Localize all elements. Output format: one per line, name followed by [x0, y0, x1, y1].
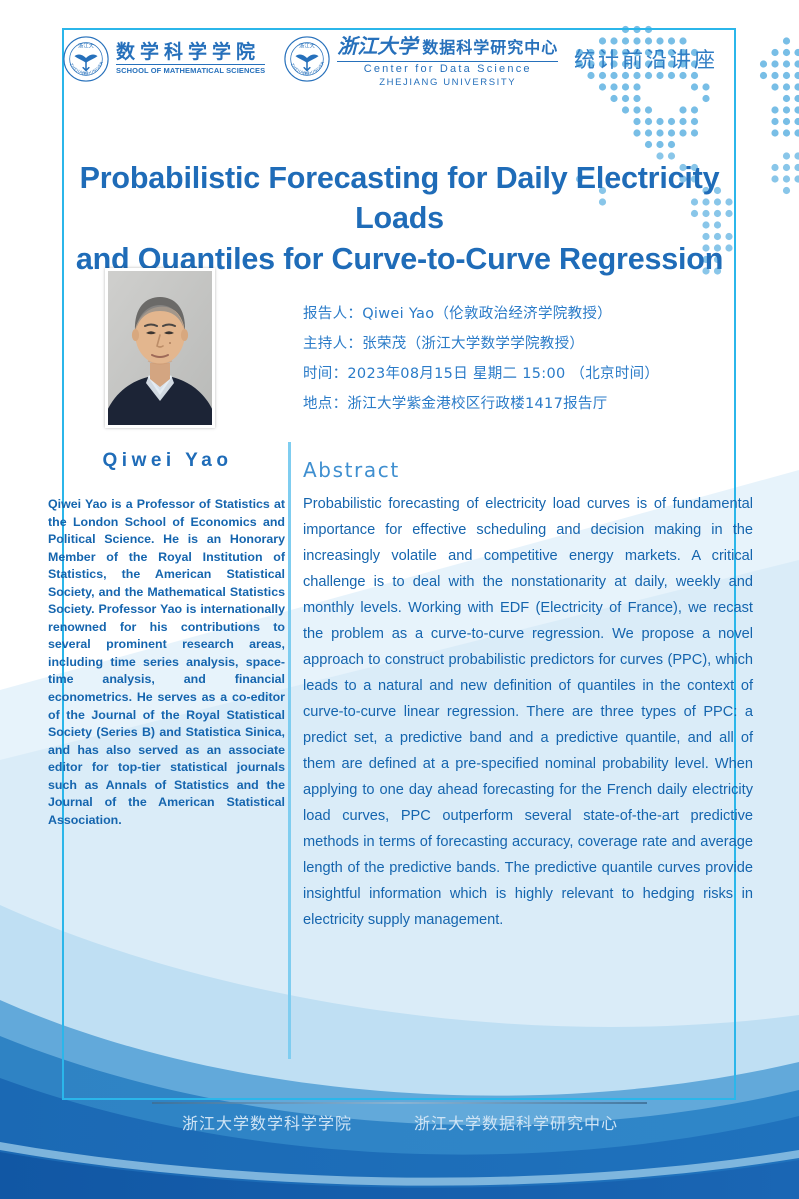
footer-divider: [152, 1102, 647, 1104]
poster-root: 浙江大 1897 ZHEJIANG UNIVERSITY 数学科学学院 SCHO…: [0, 0, 799, 1199]
logo-row: 浙江大 1897 ZHEJIANG UNIVERSITY 数学科学学院 SCHO…: [62, 30, 558, 88]
info-venue: 地点：浙江大学紫金港校区行政楼1417报告厅: [303, 390, 758, 420]
logo-center-for-data-science: 浙江大 1897 ZHEJIANG UNIVERSITY 浙江大学 数据科学研究…: [283, 30, 558, 88]
speaker-photo-frame: [105, 268, 215, 428]
header: 浙江大 1897 ZHEJIANG UNIVERSITY 数学科学学院 SCHO…: [0, 0, 799, 100]
zju-seal-icon: 浙江大 1897 ZHEJIANG UNIVERSITY: [283, 35, 331, 83]
logo-math-en: SCHOOL OF MATHEMATICAL SCIENCES: [116, 64, 265, 75]
title-line-1: Probabilistic Forecasting for Daily Elec…: [36, 158, 763, 239]
footer-left: 浙江大学数学科学学院: [182, 1110, 352, 1134]
event-info: 报告人：Qiwei Yao（伦敦政治经济学院教授） 主持人：张荣茂（浙江大学数学…: [303, 300, 758, 419]
abstract-heading: Abstract: [303, 458, 400, 482]
logo-cds-cn: 数据科学研究中心: [422, 34, 558, 58]
footer-right: 浙江大学数据科学研究中心: [414, 1110, 618, 1134]
info-speaker: 报告人：Qiwei Yao（伦敦政治经济学院教授）: [303, 300, 758, 330]
logo-cds-rule: [337, 61, 558, 62]
info-host: 主持人：张荣茂（浙江大学数学学院教授）: [303, 330, 758, 360]
zju-seal-icon: 浙江大 1897 ZHEJIANG UNIVERSITY: [62, 35, 110, 83]
logo-cds-cn-script: 浙江大学: [337, 30, 417, 59]
logo-school-of-mathematical-sciences: 浙江大 1897 ZHEJIANG UNIVERSITY 数学科学学院 SCHO…: [62, 35, 265, 83]
speaker-portrait: [108, 271, 212, 425]
speaker-name: Qiwei Yao: [45, 450, 290, 472]
page-title: Probabilistic Forecasting for Daily Elec…: [36, 158, 763, 279]
speaker-bio: Qiwei Yao is a Professor of Statistics a…: [48, 496, 285, 829]
column-divider: [288, 442, 291, 1059]
logo-cds-en2: ZHEJIANG UNIVERSITY: [337, 77, 558, 88]
logo-cds-en1: Center for Data Science: [337, 63, 558, 77]
logo-math-cn: 数学科学学院: [116, 43, 265, 63]
footer: 浙江大学数学科学学院 浙江大学数据科学研究中心: [100, 1110, 700, 1134]
abstract-body: Probabilistic forecasting of electricity…: [303, 492, 753, 933]
info-time: 时间：2023年08月15日 星期二 15:00 （北京时间）: [303, 360, 758, 390]
series-label: 统计前沿讲座: [574, 44, 718, 74]
